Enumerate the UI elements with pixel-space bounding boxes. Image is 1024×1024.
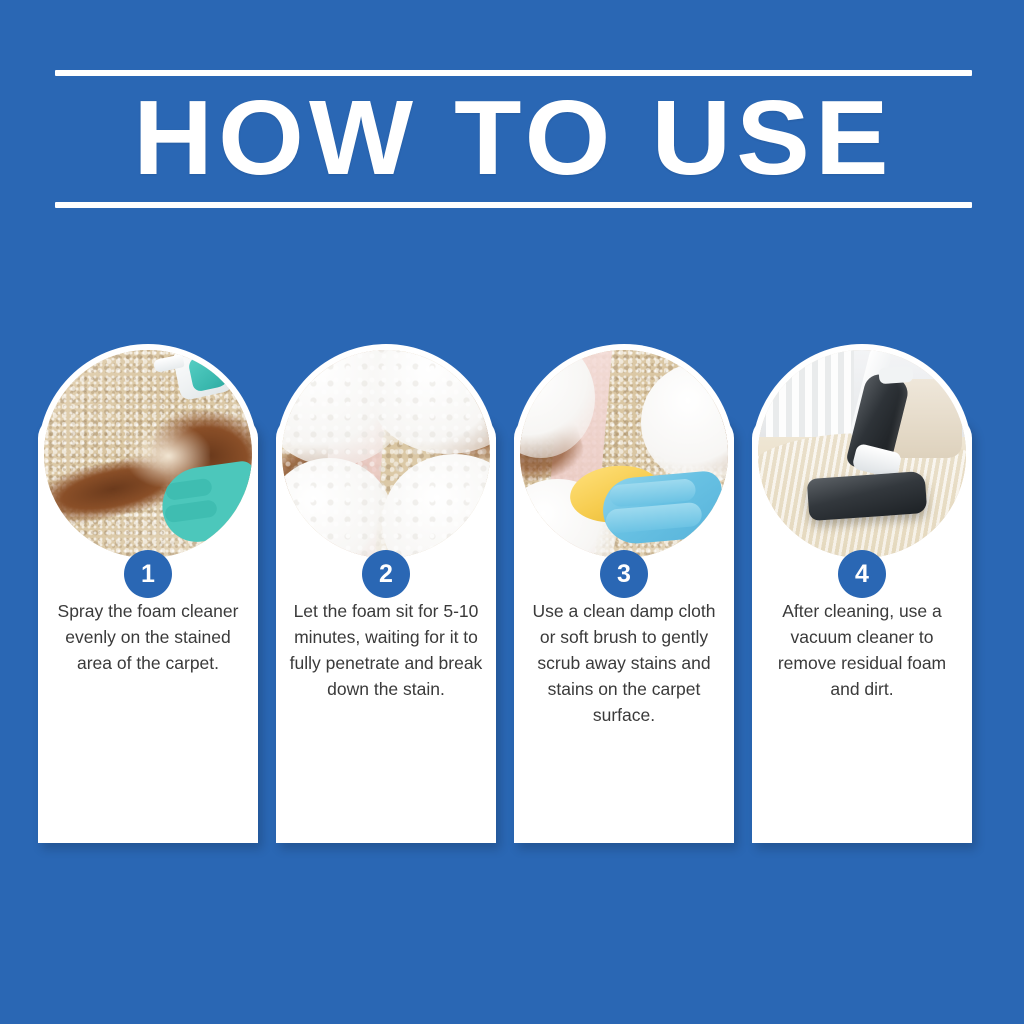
step-badge-4: 4 [838, 550, 886, 598]
blue-glove-icon [601, 470, 726, 546]
step-image-2 [282, 350, 490, 558]
vacuum-head-icon [807, 471, 928, 521]
step-caption-2: Let the foam sit for 5-10 minutes, waiti… [288, 598, 484, 702]
step-image-1 [44, 350, 252, 558]
step-image-4 [758, 350, 966, 558]
step-card-3: 3 Use a clean damp cloth or soft brush t… [514, 416, 734, 843]
step-badge-3: 3 [600, 550, 648, 598]
step-card-4: 4 After cleaning, use a vacuum cleaner t… [752, 416, 972, 843]
step-caption-3: Use a clean damp cloth or soft brush to … [526, 598, 722, 728]
page-title: HOW TO USE [37, 82, 991, 194]
title-block: HOW TO USE [55, 70, 972, 208]
step-card-2: 2 Let the foam sit for 5-10 minutes, wai… [276, 416, 496, 843]
step-badge-2: 2 [362, 550, 410, 598]
step-image-3 [520, 350, 728, 558]
step-photo-ring-4 [752, 344, 972, 564]
curtain-icon [766, 350, 853, 446]
title-rule-bottom [55, 202, 972, 208]
steps-row: 1 Spray the foam cleaner evenly on the s… [38, 416, 987, 843]
step-photo-ring-3 [514, 344, 734, 564]
step-photo-ring-2 [276, 344, 496, 564]
step-card-1: 1 Spray the foam cleaner evenly on the s… [38, 416, 258, 843]
glove-finger [165, 478, 213, 501]
step-caption-1: Spray the foam cleaner evenly on the sta… [50, 598, 246, 676]
title-rule-top [55, 70, 972, 76]
foam-bubbles-icon [282, 350, 490, 558]
vacuum-headlight-icon [878, 365, 913, 383]
poster-root: HOW TO USE [0, 0, 1024, 1024]
step-badge-1: 1 [124, 550, 172, 598]
glove-finger [164, 499, 218, 523]
step-photo-ring-1 [38, 344, 258, 564]
step-caption-4: After cleaning, use a vacuum cleaner to … [764, 598, 960, 702]
